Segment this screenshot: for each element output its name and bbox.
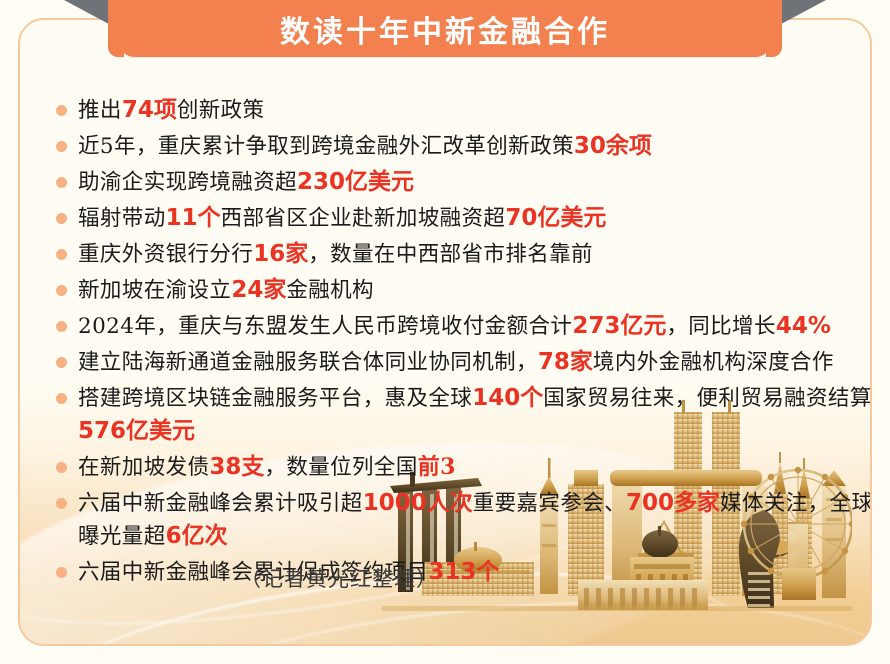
list-item: 新加坡在渝设立24家金融机构 [54,274,872,307]
highlight-value: 576亿美元 [78,418,195,444]
item-text: 搭建跨境区块链金融服务平台，惠及全球 [78,386,472,411]
ribbon-band: 数读十年中新金融合作 [120,0,770,57]
highlight-value: 74项 [122,97,177,123]
highlight-value: 11个 [166,205,221,231]
highlight-value: 44% [776,313,831,339]
item-text: 创新政策 [177,98,265,123]
infographic-poster: 推出74项创新政策近5年，重庆累计争取到跨境金融外汇改革创新政策30余项助渝企实… [0,0,890,664]
item-text: ，数量在中西部省市排名靠前 [308,242,593,267]
credit-line: （记者黄光红整理） [240,563,438,593]
list-item: 近5年，重庆累计争取到跨境金融外汇改革创新政策30余项 [54,130,872,163]
list-item: 六届中新金融峰会累计促成签约项目313个 [54,556,872,589]
item-text: 六届中新金融峰会累计吸引超 [78,491,363,516]
bullet-icon [56,177,67,188]
list-item: 辐射带动11个西部省区企业赴新加坡融资超70亿美元 [54,202,872,235]
highlight-value: 313个 [428,559,499,585]
item-text: 金融机构 [286,278,374,303]
item-text: 推出 [78,98,122,123]
highlight-value: 1000人次 [363,490,473,516]
item-text: 重庆外资银行分行 [78,242,253,267]
item-text: 国家贸易往来，便利贸易融资结算 [543,386,872,411]
bullet-icon [56,321,67,332]
item-text: 2024年，重庆与东盟发生人民币跨境收付金额合计 [78,314,572,339]
title-ribbon: 数读十年中新金融合作 [0,0,890,62]
list-item: 在新加坡发债38支，数量位列全国前3 [54,451,872,484]
item-text: 助渝企实现跨境融资超 [78,170,297,195]
bullet-icon [56,462,67,473]
poster-card: 推出74项创新政策近5年，重庆累计争取到跨境金融外汇改革创新政策30余项助渝企实… [18,18,872,646]
bullet-icon [56,105,67,116]
highlight-value: 16家 [253,241,308,267]
highlight-value: 230亿美元 [297,169,414,195]
bullet-icon [56,249,67,260]
bullet-icon [56,357,67,368]
highlight-value: 140个 [472,385,543,411]
list-item: 建立陆海新通道金融服务联合体同业协同机制，78家境内外金融机构深度合作 [54,346,872,379]
bullet-icon [56,141,67,152]
list-item: 推出74项创新政策 [54,94,872,127]
list-item: 六届中新金融峰会累计吸引超1000人次重要嘉宾参会、700多家媒体关注，全球曝光… [54,487,872,553]
highlight-value: 24家 [231,277,286,303]
list-item: 重庆外资银行分行16家，数量在中西部省市排名靠前 [54,238,872,271]
item-text: 在新加坡发债 [78,455,209,480]
page-title: 数读十年中新金融合作 [120,0,770,57]
item-text: 重要嘉宾参会、 [473,491,626,516]
item-text: 新加坡在渝设立 [78,278,231,303]
bullet-icon [56,567,67,578]
highlight-value: 273亿元 [572,313,666,339]
item-text: 辐射带动 [78,206,166,231]
item-text: 境内外金融机构深度合作 [593,350,834,375]
item-text: 西部省区企业赴新加坡融资超 [221,206,506,231]
bullet-icon [56,213,67,224]
highlight-value: 38支 [209,454,264,480]
item-text: ，同比增长 [666,314,776,339]
list-item: 搭建跨境区块链金融服务平台，惠及全球140个国家贸易往来，便利贸易融资结算576… [54,382,872,448]
item-text: 近5年，重庆累计争取到跨境金融外汇改革创新政策 [78,134,574,159]
list-item: 2024年，重庆与东盟发生人民币跨境收付金额合计273亿元，同比增长44% [54,310,872,343]
highlight-value: 30余项 [574,133,652,159]
highlight-value: 78家 [538,349,593,375]
bullet-icon [56,393,67,404]
item-text: ，数量位列全国 [264,455,417,480]
highlight-value: 70亿美元 [505,205,606,231]
item-text: 建立陆海新通道金融服务联合体同业协同机制， [78,350,538,375]
bullet-icon [56,285,67,296]
bullet-icon [56,498,67,509]
statistics-list: 推出74项创新政策近5年，重庆累计争取到跨境金融外汇改革创新政策30余项助渝企实… [54,94,872,592]
highlight-value: 700多家 [626,490,720,516]
list-item: 助渝企实现跨境融资超230亿美元 [54,166,872,199]
highlight-value: 前3 [418,454,456,480]
highlight-value: 6亿次 [166,523,228,549]
